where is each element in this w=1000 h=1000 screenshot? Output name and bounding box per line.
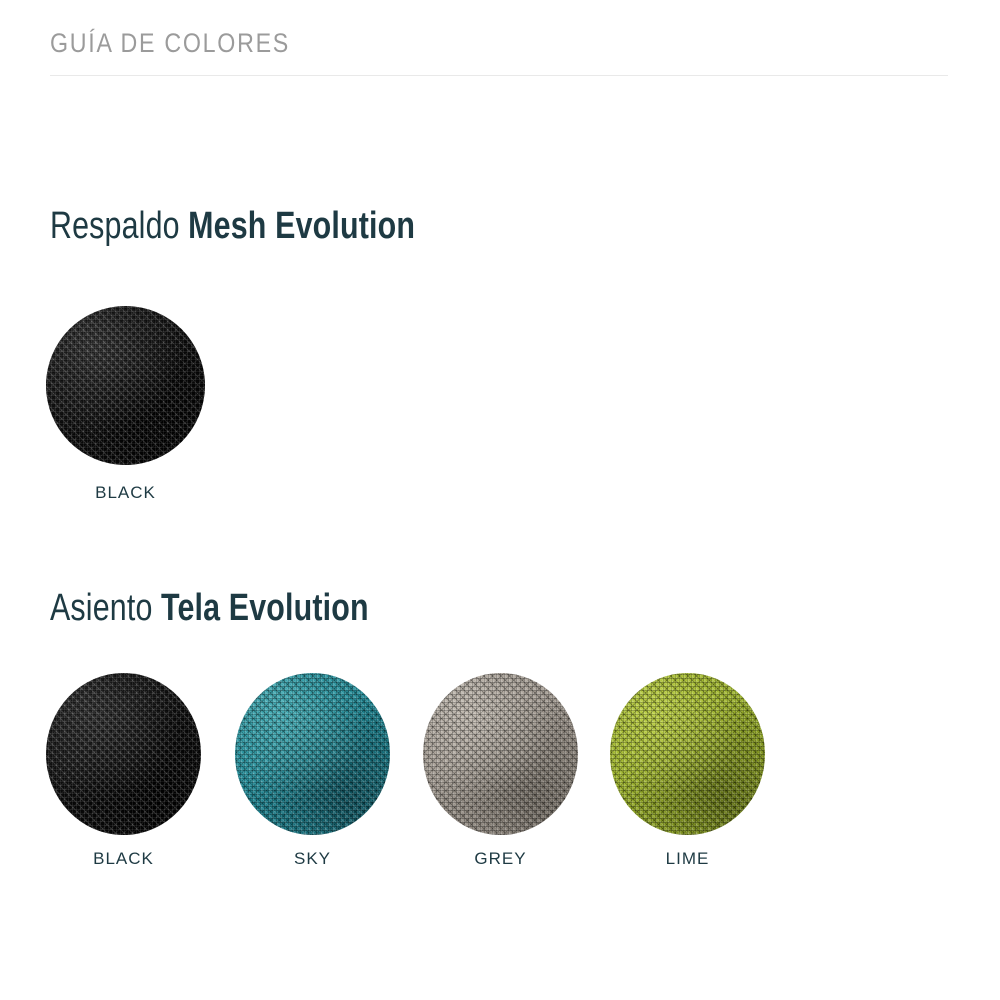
swatch-disc-grey[interactable]	[423, 673, 578, 835]
section-material-label-respaldo: Mesh Evolution	[188, 205, 415, 247]
swatch-asiento-grey[interactable]: GREY	[423, 673, 578, 835]
section-part-label-asiento: Asiento	[50, 587, 153, 629]
swatch-label-grey: GREY	[423, 849, 578, 869]
section-heading-respaldo: Respaldo Mesh Evolution	[50, 204, 415, 248]
swatch-disc-black[interactable]	[46, 306, 205, 465]
section-heading-asiento: Asiento Tela Evolution	[50, 586, 369, 630]
swatch-respaldo-black[interactable]: BLACK	[46, 306, 205, 465]
swatch-label-black: BLACK	[46, 849, 201, 869]
page-title: GUÍA DE COLORES	[50, 27, 824, 59]
swatch-disc-sky[interactable]	[235, 673, 390, 835]
swatch-label-black: BLACK	[46, 483, 205, 503]
swatch-row-asiento: BLACKSKYGREYLIME	[0, 673, 1000, 873]
swatch-asiento-lime[interactable]: LIME	[610, 673, 765, 835]
swatch-row-respaldo: BLACK	[0, 306, 1000, 506]
swatch-asiento-sky[interactable]: SKY	[235, 673, 390, 835]
section-part-label-respaldo: Respaldo	[50, 205, 180, 247]
header-divider	[50, 75, 948, 76]
swatch-label-sky: SKY	[235, 849, 390, 869]
swatch-disc-lime[interactable]	[610, 673, 765, 835]
section-material-label-asiento: Tela Evolution	[161, 587, 369, 629]
swatch-asiento-black[interactable]: BLACK	[46, 673, 201, 835]
swatch-label-lime: LIME	[610, 849, 765, 869]
page-header: GUÍA DE COLORES	[50, 27, 950, 67]
color-guide-page: GUÍA DE COLORES Respaldo Mesh Evolution …	[0, 0, 1000, 1000]
swatch-disc-black[interactable]	[46, 673, 201, 835]
